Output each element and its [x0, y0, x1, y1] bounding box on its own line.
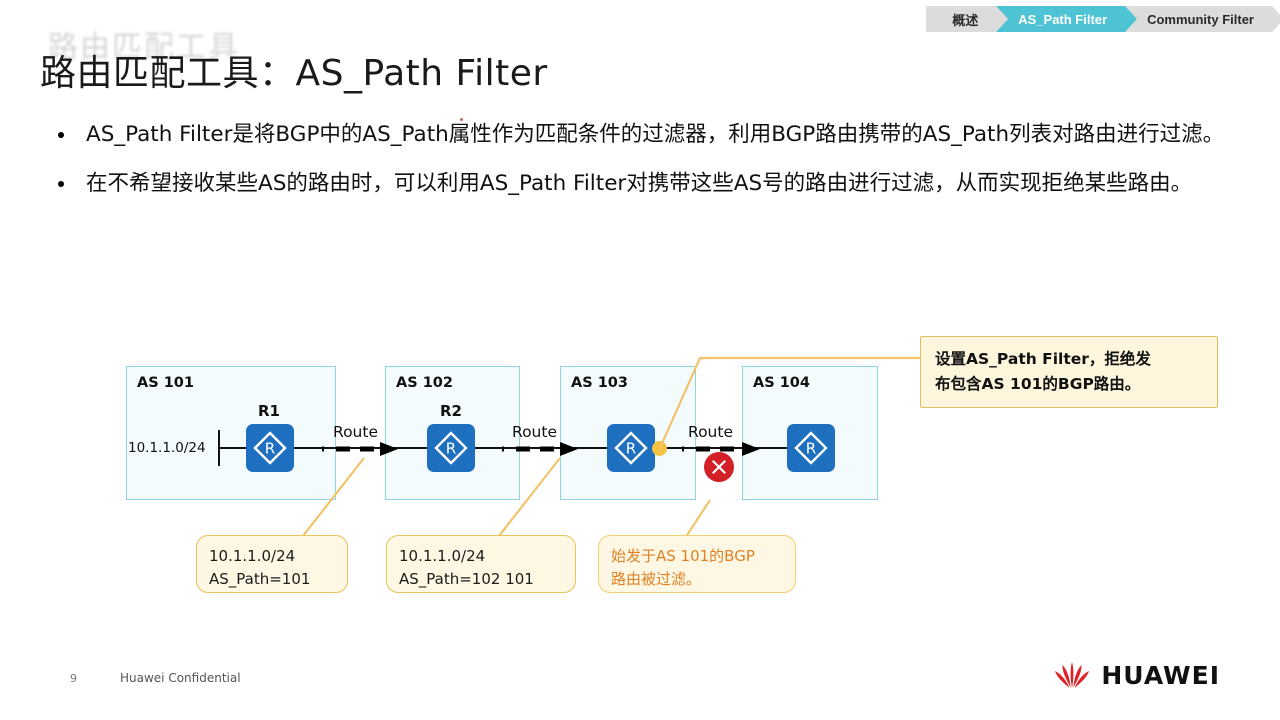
callout-route-info-1: 10.1.1.0/24 AS_Path=101 — [196, 535, 348, 593]
callout-line: 设置AS_Path Filter，拒绝发 — [935, 347, 1203, 372]
bullet-list: AS_Path Filter是将BGP中的AS_Path属性作为匹配条件的过滤器… — [48, 118, 1248, 216]
router-label-r1: R1 — [258, 402, 280, 420]
bullet-text: AS_Path Filter是将BGP中的AS_Path属性作为匹配条件的过滤器… — [86, 118, 1224, 153]
list-item: 在不希望接收某些AS的路由时，可以利用AS_Path Filter对携带这些AS… — [48, 167, 1248, 202]
callout-line: 10.1.1.0/24 — [399, 545, 563, 568]
svg-text:R: R — [626, 440, 636, 458]
leader-line-4 — [640, 330, 940, 460]
page-title: 路由匹配工具：AS_Path Filter — [40, 44, 548, 96]
confidential-notice: Huawei Confidential — [120, 671, 241, 685]
topology-diagram: AS 101 AS 102 AS 103 AS 104 10.1.1.0/24 — [0, 330, 1280, 620]
brand-name: HUAWEI — [1101, 661, 1220, 690]
callout-line: 10.1.1.0/24 — [209, 545, 335, 568]
callout-filter-config: 设置AS_Path Filter，拒绝发 布包含AS 101的BGP路由。 — [920, 336, 1218, 408]
page-number: 9 — [70, 672, 77, 685]
as-box-label: AS 102 — [396, 375, 453, 391]
breadcrumb-item-community-filter[interactable]: Community Filter — [1125, 6, 1272, 32]
list-item: AS_Path Filter是将BGP中的AS_Path属性作为匹配条件的过滤器… — [48, 118, 1248, 153]
as-box-label: AS 103 — [571, 375, 628, 391]
huawei-logo: HUAWEI — [1052, 660, 1220, 690]
breadcrumb-label: Community Filter — [1147, 12, 1254, 27]
bullet-dot-icon — [58, 132, 64, 138]
callout-line: 布包含AS 101的BGP路由。 — [935, 372, 1203, 397]
callout-route-info-2: 10.1.1.0/24 AS_Path=102 101 — [386, 535, 576, 593]
as-box-label: AS 101 — [137, 375, 194, 391]
breadcrumb: 概述 AS_Path Filter Community Filter — [926, 6, 1272, 32]
slide-root: 概述 AS_Path Filter Community Filter 路由匹配工… — [0, 0, 1280, 720]
breadcrumb-item-as-path-filter[interactable]: AS_Path Filter — [996, 6, 1125, 32]
route-label-1: Route — [333, 423, 378, 441]
bullet-text: 在不希望接收某些AS的路由时，可以利用AS_Path Filter对携带这些AS… — [86, 167, 1192, 202]
breadcrumb-label: AS_Path Filter — [1018, 12, 1107, 27]
callout-line: 路由被过滤。 — [611, 568, 783, 591]
callout-line: 始发于AS 101的BGP — [611, 545, 783, 568]
breadcrumb-item-overview[interactable]: 概述 — [926, 6, 996, 32]
stray-speck — [460, 118, 463, 121]
route-label-2: Route — [512, 423, 557, 441]
callout-filter-result: 始发于AS 101的BGP 路由被过滤。 — [598, 535, 796, 593]
callout-line: AS_Path=102 101 — [399, 568, 563, 591]
huawei-flower-icon — [1052, 660, 1092, 690]
router-label-r2: R2 — [440, 402, 462, 420]
bullet-dot-icon — [58, 181, 64, 187]
breadcrumb-label: 概述 — [952, 10, 978, 29]
callout-line: AS_Path=101 — [209, 568, 335, 591]
